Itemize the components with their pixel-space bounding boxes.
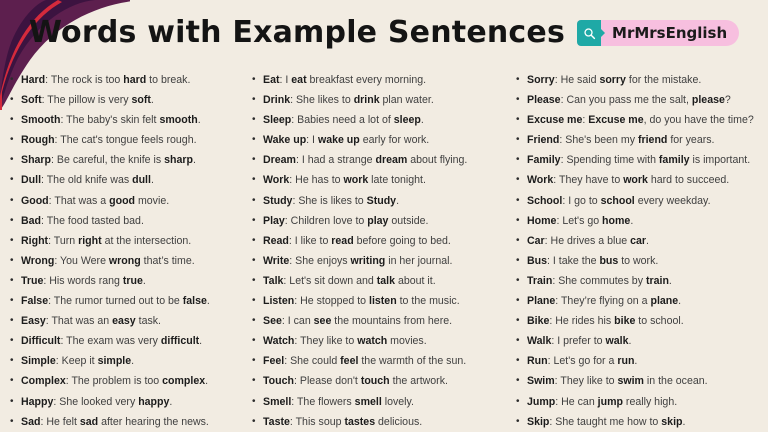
word-entry: Home: Let's go home. (516, 211, 768, 231)
word-highlight: work (623, 174, 648, 186)
brand-badge[interactable]: MrMrsEnglish (577, 20, 739, 46)
page-title: Words with Example Sentences (29, 18, 565, 48)
word-term: Write (263, 255, 289, 267)
word-highlight: jump (598, 396, 623, 408)
word-entry: Bad: The food tasted bad. (10, 211, 246, 231)
word-highlight: touch (361, 375, 390, 387)
word-term: Bus (527, 255, 547, 267)
search-icon (577, 20, 601, 46)
word-example-sentence: : Babies need a lot of sleep. (291, 114, 424, 126)
word-entry: Sorry: He said sorry for the mistake. (516, 70, 768, 90)
word-entry: Bus: I take the bus to work. (516, 251, 768, 271)
word-term: True (21, 275, 43, 287)
word-entry: Happy: She looked very happy. (10, 392, 246, 412)
word-example-sentence: : He has to work late tonight. (289, 174, 426, 186)
word-term: Good (21, 195, 49, 207)
word-term: Read (263, 235, 289, 247)
word-term: Simple (21, 355, 56, 367)
word-list-3: Sorry: He said sorry for the mistake.Ple… (516, 70, 768, 432)
word-term: Skip (527, 416, 549, 428)
word-highlight: read (331, 235, 353, 247)
word-example-sentence: : The problem is too complex. (66, 375, 208, 387)
word-highlight: wrong (109, 255, 141, 267)
word-entry: Bike: He rides his bike to school. (516, 311, 768, 331)
word-example-sentence: : She taught me how to skip. (549, 416, 685, 428)
word-highlight: simple (98, 355, 132, 367)
word-highlight: school (601, 195, 635, 207)
word-example-sentence: : They like to swim in the ocean. (555, 375, 708, 387)
word-example-sentence: : They’re flying on a plane. (555, 295, 681, 307)
word-example-sentence: : Excuse me, do you have the time? (582, 114, 753, 126)
word-term: Study (263, 195, 292, 207)
word-entry: Run: Let's go for a run. (516, 351, 768, 371)
word-highlight: car (630, 235, 646, 247)
word-example-sentence: : That was an easy task. (46, 315, 161, 327)
word-example-sentence: : She likes to drink plan water. (290, 94, 434, 106)
word-entry: Plane: They’re flying on a plane. (516, 291, 768, 311)
column-1: Hard: The rock is too hard to break.Soft… (0, 70, 246, 430)
word-term: Bike (527, 315, 549, 327)
word-highlight: bus (599, 255, 618, 267)
word-example-sentence: : That was a good movie. (49, 195, 170, 207)
word-entry: Rough: The cat's tongue feels rough. (10, 130, 246, 150)
word-list-1: Hard: The rock is too hard to break.Soft… (10, 70, 246, 432)
word-highlight: easy (112, 315, 136, 327)
word-example-sentence: : The food tasted bad. (41, 215, 144, 227)
word-example-sentence: : She could feel the warmth of the sun. (284, 355, 466, 367)
word-entry: Family: Spending time with family is imp… (516, 150, 768, 170)
word-highlight: right (78, 235, 102, 247)
word-entry: Talk: Let's sit down and talk about it. (252, 271, 508, 291)
word-example-sentence: : The pillow is very soft. (42, 94, 154, 106)
word-highlight: play (367, 215, 388, 227)
word-entry: Swim: They like to swim in the ocean. (516, 371, 768, 391)
word-highlight: train (646, 275, 669, 287)
word-entry: Simple: Keep it simple. (10, 351, 246, 371)
word-entry: Sad: He felt sad after hearing the news. (10, 412, 246, 432)
poster-canvas: Words with Example Sentences MrMrsEnglis… (0, 0, 768, 432)
word-term: Walk (527, 335, 551, 347)
word-example-sentence: : I can see the mountains from here. (282, 315, 452, 327)
word-highlight: good (109, 195, 135, 207)
word-term: Plane (527, 295, 555, 307)
word-example-sentence: : I go to school every weekday. (562, 195, 710, 207)
word-example-sentence: : They have to work hard to succeed. (553, 174, 729, 186)
word-term: Difficult (21, 335, 60, 347)
word-highlight: feel (340, 355, 358, 367)
word-entry: Dull: The old knife was dull. (10, 170, 246, 190)
word-example-sentence: : He rides his bike to school. (549, 315, 683, 327)
word-highlight: smooth (159, 114, 197, 126)
word-term: Dull (21, 174, 41, 186)
column-2: Eat: I eat breakfast every morning.Drink… (246, 70, 508, 430)
word-term: Home (527, 215, 556, 227)
word-entry: Jump: He can jump really high. (516, 392, 768, 412)
word-entry: Work: They have to work hard to succeed. (516, 170, 768, 190)
word-example-sentence: : Let's go for a run. (548, 355, 638, 367)
word-term: Jump (527, 396, 555, 408)
word-entry: Play: Children love to play outside. (252, 211, 508, 231)
word-term: Smell (263, 396, 291, 408)
word-highlight: dream (376, 154, 408, 166)
word-entry: School: I go to school every weekday. (516, 191, 768, 211)
word-term: Car (527, 235, 545, 247)
word-highlight: friend (638, 134, 667, 146)
word-entry: Feel: She could feel the warmth of the s… (252, 351, 508, 371)
word-example-sentence: : He said sorry for the mistake. (555, 74, 702, 86)
word-entry: Train: She commutes by train. (516, 271, 768, 291)
word-example-sentence: : She's been my friend for years. (559, 134, 714, 146)
word-term: Listen (263, 295, 294, 307)
word-example-sentence: : The rumor turned out to be false. (48, 295, 210, 307)
word-example-sentence: : She commutes by train. (552, 275, 672, 287)
word-example-sentence: : Be careful, the knife is sharp. (51, 154, 196, 166)
word-example-sentence: : Turn right at the intersection. (48, 235, 191, 247)
word-entry: Wrong: You Were wrong that’s time. (10, 251, 246, 271)
word-term: Work (527, 174, 553, 186)
word-entry: Sharp: Be careful, the knife is sharp. (10, 150, 246, 170)
word-term: Soft (21, 94, 42, 106)
word-highlight: smell (355, 396, 382, 408)
word-highlight: skip (661, 416, 682, 428)
word-term: Wake up (263, 134, 306, 146)
word-example-sentence: : I eat breakfast every morning. (280, 74, 427, 86)
word-list-2: Eat: I eat breakfast every morning.Drink… (252, 70, 508, 432)
word-example-sentence: : I had a strange dream about flying. (296, 154, 467, 166)
column-3: Sorry: He said sorry for the mistake.Ple… (508, 70, 768, 430)
word-highlight: home (602, 215, 630, 227)
word-entry: Car: He drives a blue car. (516, 231, 768, 251)
word-term: Work (263, 174, 289, 186)
word-example-sentence: : His words rang true. (43, 275, 145, 287)
word-entry: Taste: This soup tastes delicious. (252, 412, 508, 432)
word-entry: Smooth: The baby's skin felt smooth. (10, 110, 246, 130)
word-example-sentence: : Can you pass me the salt, please? (561, 94, 731, 106)
word-example-sentence: : Children love to play outside. (285, 215, 429, 227)
word-highlight: sorry (599, 74, 626, 86)
word-highlight: bike (614, 315, 635, 327)
word-example-sentence: : He drives a blue car. (545, 235, 649, 247)
word-entry: Walk: I prefer to walk. (516, 331, 768, 351)
word-entry: Complex: The problem is too complex. (10, 371, 246, 391)
word-entry: Friend: She's been my friend for years. (516, 130, 768, 150)
word-term: Watch (263, 335, 294, 347)
word-highlight: writing (351, 255, 386, 267)
word-term: Wrong (21, 255, 54, 267)
word-highlight: talk (377, 275, 395, 287)
word-highlight: false (183, 295, 207, 307)
word-term: Eat (263, 74, 280, 86)
word-example-sentence: : The old knife was dull. (41, 174, 154, 186)
word-term: Play (263, 215, 285, 227)
word-term: Dream (263, 154, 296, 166)
word-example-sentence: : I prefer to walk. (551, 335, 631, 347)
word-highlight: sad (80, 416, 98, 428)
word-entry: Wake up: I wake up early for work. (252, 130, 508, 150)
word-example-sentence: : The cat's tongue feels rough. (55, 134, 197, 146)
word-example-sentence: : She enjoys writing in her journal. (289, 255, 452, 267)
word-example-sentence: : The rock is too hard to break. (45, 74, 190, 86)
word-highlight: wake up (318, 134, 360, 146)
word-term: Family (527, 154, 561, 166)
word-entry: Study: She is likes to Study. (252, 191, 508, 211)
word-highlight: drink (354, 94, 380, 106)
word-highlight: sharp (164, 154, 193, 166)
word-example-sentence: : She looked very happy. (53, 396, 172, 408)
word-example-sentence: : This soup tastes delicious. (290, 416, 422, 428)
word-entry: Write: She enjoys writing in her journal… (252, 251, 508, 271)
word-example-sentence: : You Were wrong that’s time. (54, 255, 194, 267)
word-term: Smooth (21, 114, 60, 126)
word-columns: Hard: The rock is too hard to break.Soft… (0, 70, 768, 430)
word-term: Drink (263, 94, 290, 106)
word-entry: See: I can see the mountains from here. (252, 311, 508, 331)
word-highlight: dull (132, 174, 151, 186)
word-example-sentence: : Let's sit down and talk about it. (283, 275, 435, 287)
word-term: Complex (21, 375, 66, 387)
word-entry: True: His words rang true. (10, 271, 246, 291)
word-entry: Right: Turn right at the intersection. (10, 231, 246, 251)
word-entry: Excuse me: Excuse me, do you have the ti… (516, 110, 768, 130)
word-entry: Drink: She likes to drink plan water. (252, 90, 508, 110)
word-entry: False: The rumor turned out to be false. (10, 291, 246, 311)
word-highlight: happy (138, 396, 169, 408)
word-example-sentence: : She is likes to Study. (292, 195, 399, 207)
word-highlight: plane (650, 295, 678, 307)
word-term: Bad (21, 215, 41, 227)
word-highlight: family (659, 154, 690, 166)
word-entry: Please: Can you pass me the salt, please… (516, 90, 768, 110)
word-term: Please (527, 94, 561, 106)
word-highlight: eat (291, 74, 306, 86)
word-highlight: tastes (344, 416, 375, 428)
word-entry: Hard: The rock is too hard to break. (10, 70, 246, 90)
word-example-sentence: : Let's go home. (556, 215, 633, 227)
word-term: See (263, 315, 282, 327)
word-entry: Listen: He stopped to listen to the musi… (252, 291, 508, 311)
word-term: Rough (21, 134, 55, 146)
word-term: Hard (21, 74, 45, 86)
word-example-sentence: : He stopped to listen to the music. (294, 295, 459, 307)
word-example-sentence: : They like to watch movies. (294, 335, 426, 347)
word-highlight: soft (131, 94, 150, 106)
word-highlight: listen (369, 295, 397, 307)
word-highlight: please (692, 94, 725, 106)
poster-header: Words with Example Sentences MrMrsEnglis… (0, 0, 768, 66)
brand-name: MrMrsEnglish (601, 26, 727, 41)
word-highlight: swim (617, 375, 644, 387)
word-example-sentence: : Spending time with family is important… (561, 154, 751, 166)
word-example-sentence: : The exam was very difficult. (60, 335, 202, 347)
word-highlight: watch (357, 335, 387, 347)
word-highlight: sleep (394, 114, 421, 126)
word-entry: Dream: I had a strange dream about flyin… (252, 150, 508, 170)
word-example-sentence: : He can jump really high. (555, 396, 677, 408)
word-entry: Work: He has to work late tonight. (252, 170, 508, 190)
word-term: Sorry (527, 74, 555, 86)
word-term: Touch (263, 375, 294, 387)
word-entry: Good: That was a good movie. (10, 191, 246, 211)
word-entry: Easy: That was an easy task. (10, 311, 246, 331)
word-term: Happy (21, 396, 53, 408)
word-term: Sharp (21, 154, 51, 166)
word-entry: Eat: I eat breakfast every morning. (252, 70, 508, 90)
word-example-sentence: : I wake up early for work. (306, 134, 429, 146)
word-term: Friend (527, 134, 559, 146)
word-highlight: see (314, 315, 332, 327)
word-highlight: Study (367, 195, 396, 207)
word-example-sentence: : I like to read before going to bed. (289, 235, 451, 247)
word-example-sentence: : He felt sad after hearing the news. (40, 416, 208, 428)
word-entry: Skip: She taught me how to skip. (516, 412, 768, 432)
word-entry: Watch: They like to watch movies. (252, 331, 508, 351)
word-entry: Touch: Please don't touch the artwork. (252, 371, 508, 391)
word-example-sentence: : I take the bus to work. (547, 255, 658, 267)
word-term: Taste (263, 416, 290, 428)
word-example-sentence: : Keep it simple. (56, 355, 134, 367)
word-highlight: Excuse me (588, 114, 643, 126)
word-entry: Read: I like to read before going to bed… (252, 231, 508, 251)
word-example-sentence: : Please don't touch the artwork. (294, 375, 448, 387)
word-term: Easy (21, 315, 46, 327)
word-example-sentence: : The baby's skin felt smooth. (60, 114, 200, 126)
word-term: Feel (263, 355, 284, 367)
word-highlight: run (617, 355, 634, 367)
word-entry: Difficult: The exam was very difficult. (10, 331, 246, 351)
word-entry: Sleep: Babies need a lot of sleep. (252, 110, 508, 130)
word-highlight: difficult (161, 335, 199, 347)
word-term: Right (21, 235, 48, 247)
word-entry: Soft: The pillow is very soft. (10, 90, 246, 110)
word-term: Sad (21, 416, 40, 428)
word-term: School (527, 195, 562, 207)
word-entry: Smell: The flowers smell lovely. (252, 392, 508, 412)
word-term: Train (527, 275, 552, 287)
word-term: Talk (263, 275, 283, 287)
word-term: Sleep (263, 114, 291, 126)
word-term: Run (527, 355, 548, 367)
word-highlight: walk (606, 335, 629, 347)
word-highlight: hard (123, 74, 146, 86)
word-highlight: complex (162, 375, 205, 387)
word-highlight: true (123, 275, 143, 287)
word-term: Excuse me (527, 114, 582, 126)
word-example-sentence: : The flowers smell lovely. (291, 396, 414, 408)
word-highlight: work (343, 174, 368, 186)
word-term: Swim (527, 375, 555, 387)
word-term: False (21, 295, 48, 307)
